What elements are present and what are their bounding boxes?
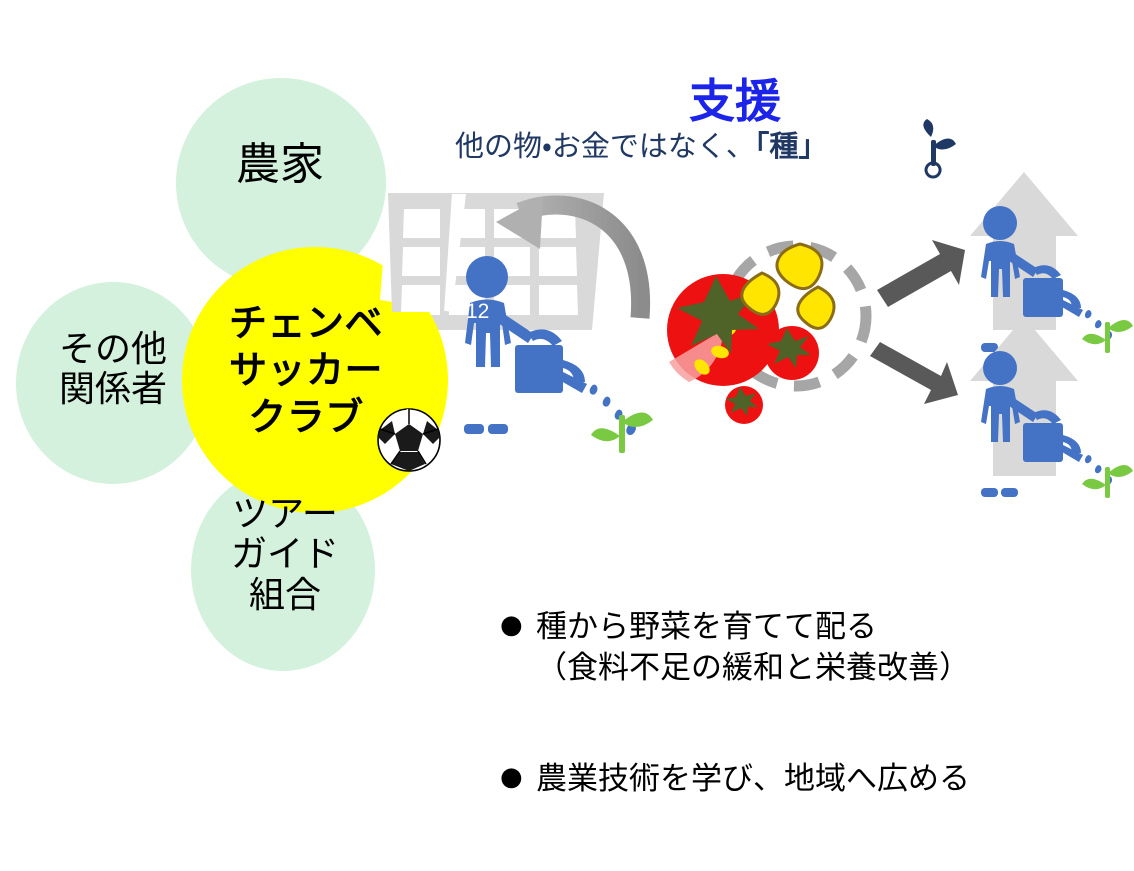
- center-node-label: チェンベ サッカー クラブ: [196, 300, 416, 441]
- list-item: ● 農業技術を学び、地域へ広める: [500, 759, 1100, 799]
- player-jersey-number: 12: [466, 300, 489, 324]
- page-title: 支援: [585, 76, 885, 128]
- sprout-green-icon-1: [591, 412, 653, 453]
- arrow-down-right-icon: [870, 342, 958, 404]
- page-subtitle: 他の物・お金ではなく、「種」: [455, 130, 925, 162]
- bullet-marker: ●: [500, 759, 536, 797]
- tomato-seeds-icon: [667, 244, 866, 424]
- stakeholder-label-farmers: 農家: [180, 140, 380, 189]
- bullet-sub: （食料不足の緩和と栄養改善）: [536, 648, 1100, 688]
- stakeholder-label-tour-guide-union: ツアー ガイド 組合: [190, 495, 380, 616]
- bullet-text: 農業技術を学び、地域へ広める: [536, 759, 1100, 799]
- subtitle-emphasis: 「種」: [755, 129, 828, 163]
- stakeholder-label-other-parties: その他 関係者: [18, 330, 208, 411]
- slide-canvas: 農家 その他 関係者 ツアー ガイド 組合 チェンベ サッカー クラブ 支援 他…: [0, 0, 1134, 756]
- water-drops-icon: [590, 385, 636, 435]
- bullet-main: 種から野菜を育てて配る: [536, 609, 877, 645]
- list-item: ● 種から野菜を育てて配る（食料不足の緩和と栄養改善）: [500, 607, 1100, 688]
- arrow-up-right-icon: [877, 240, 965, 307]
- subtitle-prefix: 他の物・お金ではなく、: [455, 129, 755, 163]
- sprout-icon: [923, 119, 956, 177]
- bullet-text: 種から野菜を育てて配る（食料不足の緩和と栄養改善）: [536, 607, 1100, 688]
- recipient-watering-top: [970, 172, 1133, 353]
- bullet-list: ● 種から野菜を育てて配る（食料不足の緩和と栄養改善） ● 農業技術を学び、地域…: [500, 538, 1100, 871]
- bullet-marker: ●: [500, 607, 536, 645]
- bullet-main: 農業技術を学び、地域へ広める: [536, 761, 970, 797]
